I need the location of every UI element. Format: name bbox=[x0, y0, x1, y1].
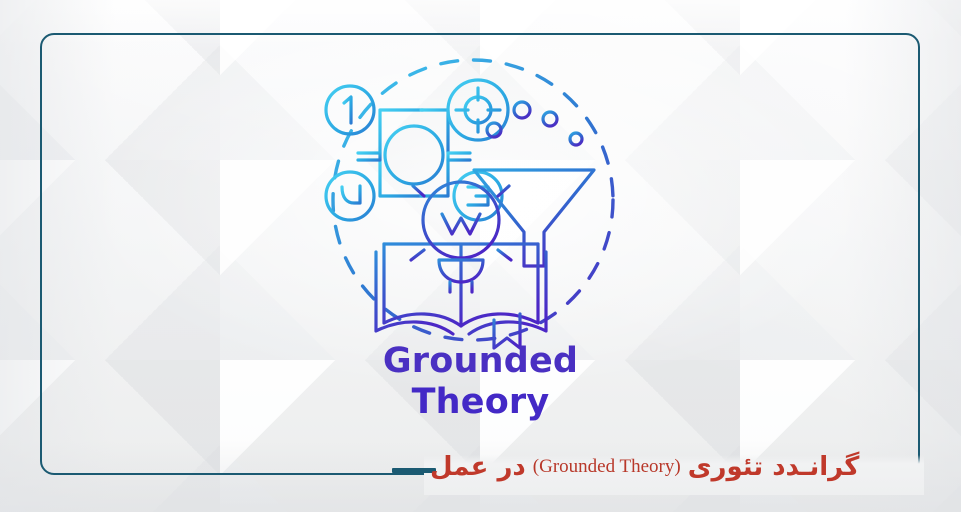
slide-canvas: Grounded Theory گرانـدد تئوری (Grounded … bbox=[0, 0, 961, 512]
funnel-pin-icons bbox=[487, 102, 582, 170]
node-cluster-icon bbox=[326, 80, 508, 220]
wordmark-line-2: Theory bbox=[0, 382, 961, 423]
grounded-theory-illustration bbox=[318, 48, 648, 358]
filament-w bbox=[442, 214, 480, 234]
wordmark: Grounded Theory bbox=[0, 341, 961, 423]
caption-persian-lead: گرانـدد تئوری bbox=[688, 452, 860, 482]
caption-persian-tail: در عمل bbox=[430, 452, 526, 482]
wordmark-line-1: Grounded bbox=[0, 341, 961, 382]
lightbulb-book-icon bbox=[376, 166, 546, 348]
caption-english-parenthetical: (Grounded Theory) bbox=[533, 456, 681, 478]
caption-bar: گرانـدد تئوری (Grounded Theory) در عمل bbox=[430, 446, 904, 488]
